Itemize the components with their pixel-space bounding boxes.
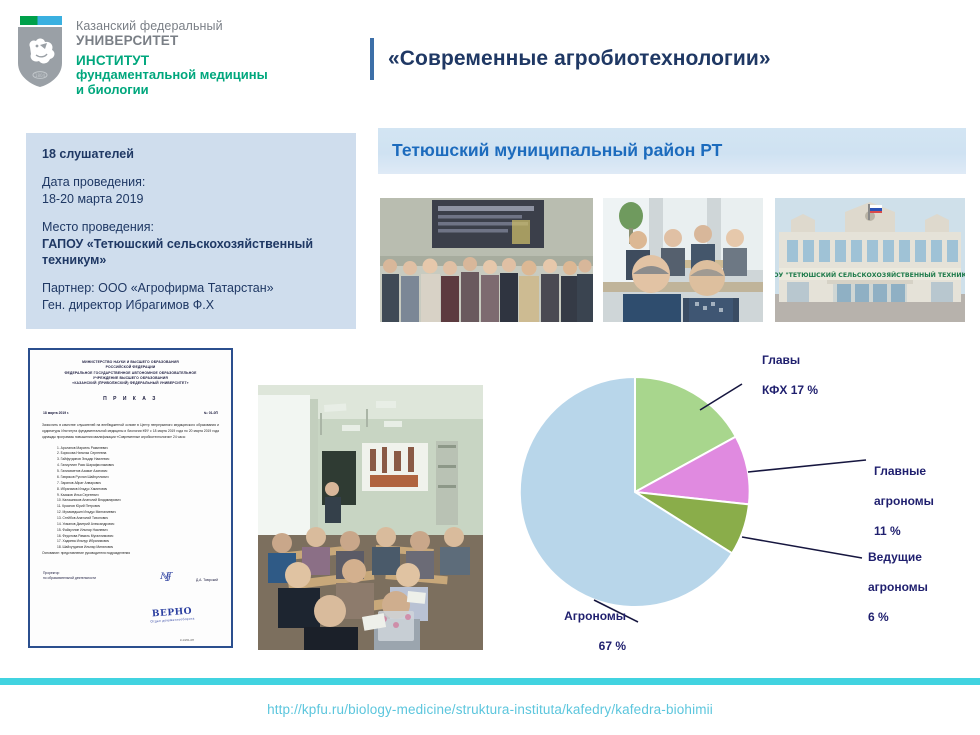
pie-label-veduschie-agronomy: Ведущие агрономы 6 %	[868, 535, 928, 625]
date-label: Дата проведения:	[42, 175, 145, 189]
pie-label-glavnye-line2: агрономы	[874, 494, 934, 508]
document-footer-code: К-13/01-0П	[180, 638, 194, 642]
leader-line-glavnye-agronomy	[748, 460, 866, 472]
building-sign-text: ГАПОУ "ТЕТЮШСКИЙ СЕЛЬСКОХОЗЯЙСТВЕННЫЙ ТЕ…	[775, 270, 965, 279]
signer-role: Проректор по образовательной деятельност…	[43, 571, 134, 582]
logo-line-fundamental-medicine: фундаментальной медицины	[76, 68, 268, 83]
verification-stamp: ВЕРНО Отдел документооборота	[150, 606, 195, 623]
kfu-logo-text: Казанский федеральный УНИВЕРСИТЕТ ИНСТИТ…	[76, 16, 268, 97]
leader-line-veduschie-agronomy	[742, 537, 862, 558]
pie-label-glavnye-agronomy: Главные агрономы 11 %	[874, 449, 934, 539]
document-basis-text: Основание: представление руководителя по…	[39, 551, 222, 557]
logo-line-university: УНИВЕРСИТЕТ	[76, 33, 268, 48]
pie-label-agronomy: Агрономы 67 %	[496, 594, 626, 654]
place-value: ГАПОУ «Тетюшский сельскохозяйственный те…	[42, 237, 313, 268]
technical-college-building-photo: ГАПОУ "ТЕТЮШСКИЙ СЕЛЬСКОХОЗЯЙСТВЕННЫЙ ТЕ…	[775, 198, 965, 322]
signer-name: Д.А. Таюрский	[196, 578, 218, 582]
pie-label-veduschie-line3: 6 %	[868, 610, 889, 624]
leader-line-glavy-kfh	[700, 384, 742, 410]
signature-mark: ℕʃʄ	[160, 572, 171, 582]
order-document-scan: МИНИСТЕРСТВО НАУКИ И ВЫСШЕГО ОБРАЗОВАНИЯ…	[28, 348, 233, 648]
pie-label-veduschie-line2: агрономы	[868, 580, 928, 594]
title-accent-bar	[370, 38, 374, 80]
zilant-shield-icon: 1804	[16, 25, 64, 89]
pie-label-glavy-kfh: Главы КФХ 17 %	[762, 338, 818, 398]
logo-line-institute: ИНСТИТУТ	[76, 53, 268, 68]
footer-url[interactable]: http://kpfu.ru/biology-medicine/struktur…	[0, 702, 980, 717]
event-place-block: Место проведения: ГАПОУ «Тетюшский сельс…	[42, 219, 340, 270]
doc-header-line-4: «КАЗАНСКИЙ (ПРИВОЛЖСКИЙ) ФЕДЕРАЛЬНЫЙ УНИ…	[39, 381, 222, 386]
shield-year-text: 1804	[35, 73, 46, 78]
group-photo-lecture-hall	[380, 198, 593, 322]
seminar-attendees-photo	[603, 198, 763, 322]
document-title: П Р И К А З	[39, 396, 222, 402]
pie-label-glavy-kfh-line2: КФХ 17 %	[762, 383, 818, 397]
pie-label-veduschie-line1: Ведущие	[868, 550, 922, 564]
event-date-block: Дата проведения: 18-20 марта 2019	[42, 174, 340, 208]
pie-label-agronomy-line2: 67 %	[599, 639, 626, 653]
document-meta-row: 18 марта 2019 г. № 01-0П	[39, 411, 222, 415]
footer-divider	[0, 678, 980, 685]
director-line: Ген. директор Ибрагимов Ф.Х	[42, 298, 214, 312]
pie-label-agronomy-line1: Агрономы	[564, 609, 626, 623]
slide-title-row: «Современные агробиотехнологии»	[370, 38, 771, 80]
presentation-slide: 1804 Казанский федеральный УНИВЕРСИТЕТ И…	[0, 0, 980, 735]
place-label: Место проведения:	[42, 220, 154, 234]
logo-line-biology: и биологии	[76, 83, 268, 98]
subtitle-text: Тетюшский муниципальный район РТ	[392, 140, 722, 161]
date-value: 18-20 марта 2019	[42, 192, 143, 206]
logo-line-kazan-federal: Казанский федеральный	[76, 19, 268, 33]
kfu-logo-block: 1804 Казанский федеральный УНИВЕРСИТЕТ И…	[14, 16, 268, 97]
page-title: «Современные агробиотехнологии»	[388, 47, 771, 71]
event-info-panel: 18 слушателей Дата проведения: 18-20 мар…	[26, 133, 356, 329]
partner-line: Партнер: ООО «Агрофирма Татарстан»	[42, 281, 274, 295]
document-signature-row: Проректор по образовательной деятельност…	[39, 571, 222, 582]
document-number: № 01-0П	[204, 411, 218, 415]
tatarstan-flag-icon	[20, 16, 62, 25]
pie-label-glavnye-line1: Главные	[874, 464, 926, 478]
kfu-shield-logo: 1804	[14, 16, 66, 92]
classroom-lecture-photo	[258, 385, 483, 650]
document-header-block: МИНИСТЕРСТВО НАУКИ И ВЫСШЕГО ОБРАЗОВАНИЯ…	[39, 360, 222, 386]
document-enrollee-list: 1. Арсланов Марсель Рамилевич 2. Борисов…	[39, 446, 222, 551]
signer-role-line2: по образовательной деятельности	[43, 576, 134, 582]
event-partner-block: Партнер: ООО «Агрофирма Татарстан» Ген. …	[42, 280, 340, 314]
personnel-composition-pie-chart: Главы КФХ 17 % Главные агрономы 11 % Вед…	[490, 332, 970, 652]
listeners-count: 18 слушателей	[42, 146, 340, 163]
document-body-text: Зачислить в качестве слушателей на внебю…	[39, 423, 222, 440]
document-date: 18 марта 2019 г.	[43, 411, 69, 415]
pie-label-glavy-kfh-line1: Главы	[762, 353, 800, 367]
